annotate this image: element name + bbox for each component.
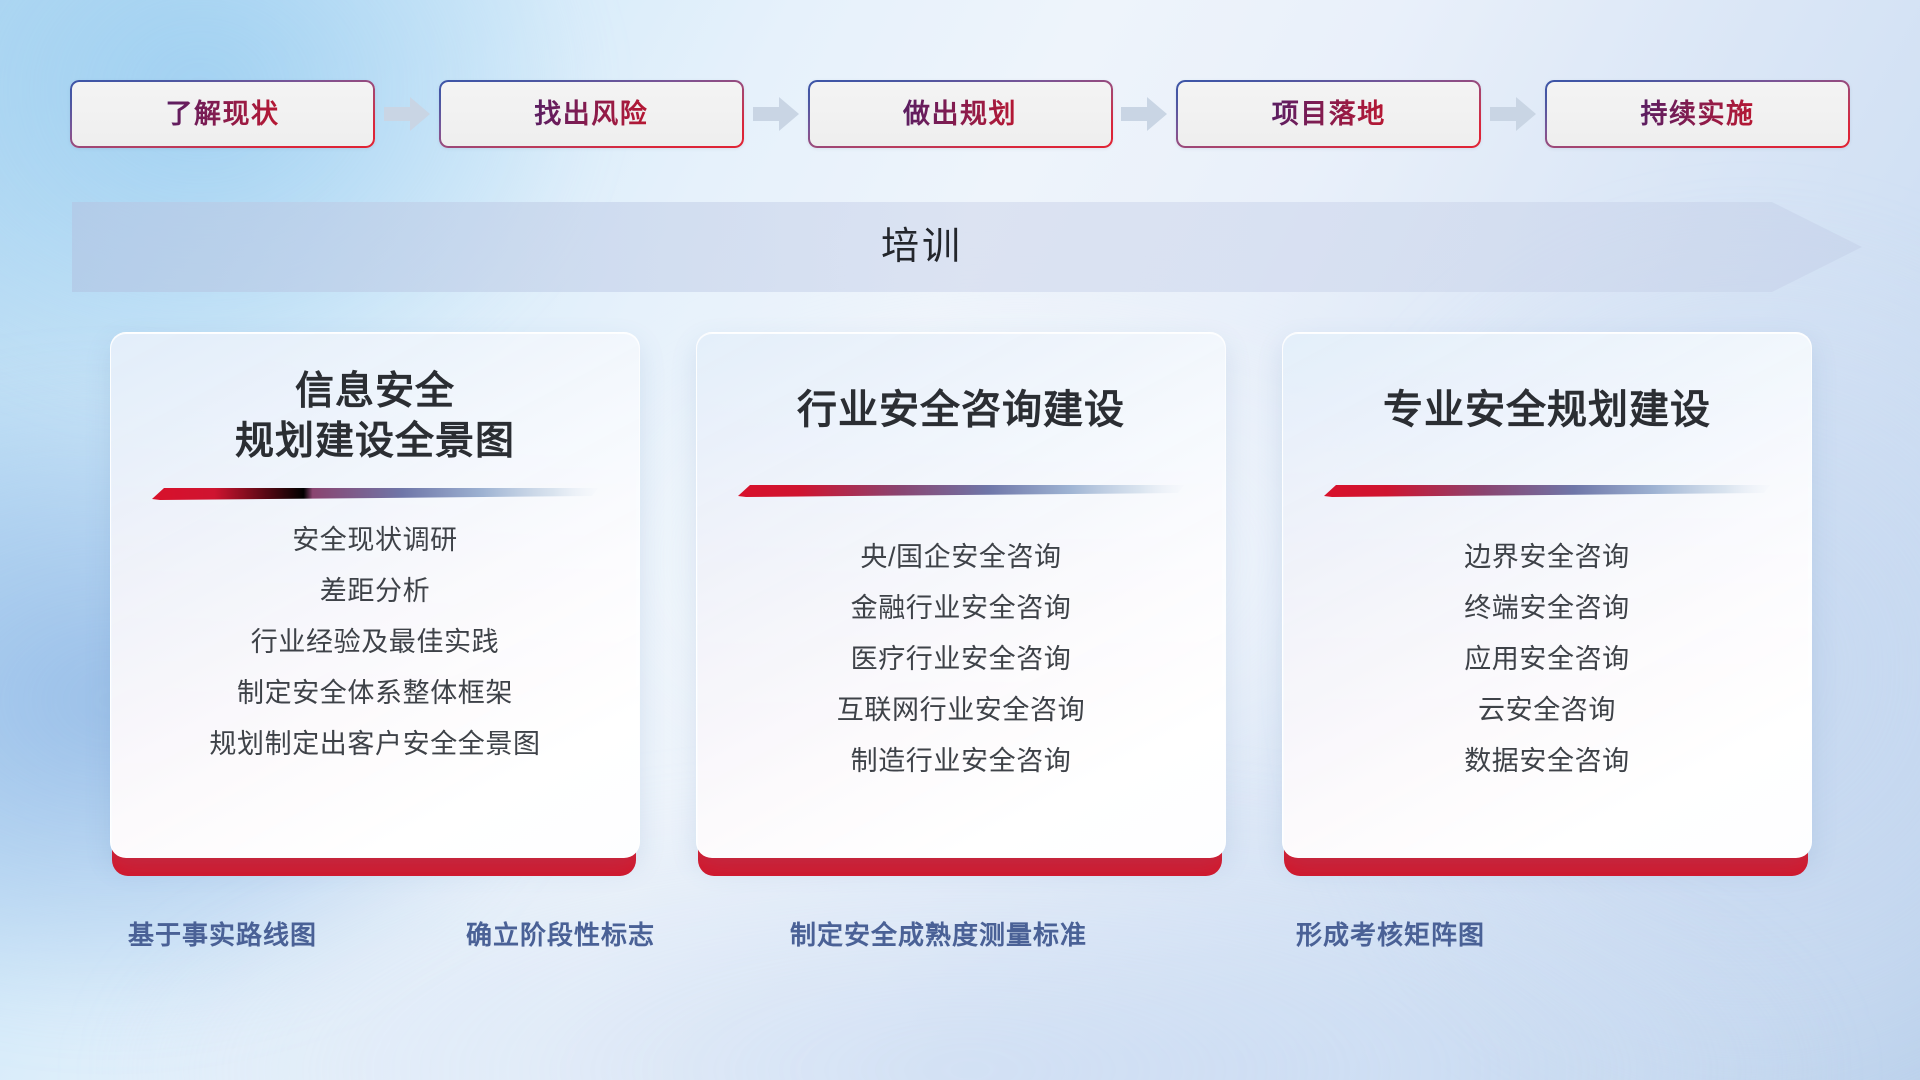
list-item: 云安全咨询 (1283, 685, 1811, 736)
footnote-label: 形成考核矩阵图 (1296, 912, 1485, 958)
card-panel: 行业安全咨询建设 (696, 332, 1226, 858)
info-card[interactable]: 行业安全咨询建设 (696, 332, 1224, 872)
list-item: 制造行业安全咨询 (697, 736, 1225, 787)
card-panel: 专业安全规划建设 (1282, 332, 1812, 858)
process-step-1[interactable]: 了解现状 (70, 80, 375, 148)
card-item-list: 边界安全咨询 终端安全咨询 应用安全咨询 云安全咨询 数据安全咨询 (1283, 532, 1811, 787)
card-title: 信息安全 规划建设全景图 (111, 367, 639, 467)
list-item: 边界安全咨询 (1283, 532, 1811, 583)
footnote-row: 基于事实路线图 确立阶段性标志 制定安全成熟度测量标准 形成考核矩阵图 (0, 912, 1920, 958)
process-step-4[interactable]: 项目落地 (1176, 80, 1481, 148)
process-step-2[interactable]: 找出风险 (439, 80, 744, 148)
list-item: 制定安全体系整体框架 (111, 668, 639, 719)
process-step-3[interactable]: 做出规划 (808, 80, 1113, 148)
process-step-4-label: 项目落地 (1176, 80, 1481, 148)
arrow-right-icon (1121, 97, 1167, 131)
gradient-divider-icon (738, 484, 1184, 498)
process-step-1-label: 了解现状 (70, 80, 375, 148)
footnote-label: 基于事实路线图 (128, 912, 317, 958)
list-item: 差距分析 (111, 566, 639, 617)
process-step-5-label: 持续实施 (1545, 80, 1850, 148)
list-item: 央/国企安全咨询 (697, 532, 1225, 583)
info-card[interactable]: 专业安全规划建设 (1282, 332, 1810, 872)
card-title: 行业安全咨询建设 (697, 385, 1225, 436)
card-group: 信息安全 规划建设全景图 (110, 332, 1810, 872)
list-item: 行业经验及最佳实践 (111, 617, 639, 668)
process-step-3-label: 做出规划 (808, 80, 1113, 148)
list-item: 规划制定出客户安全全景图 (111, 719, 639, 770)
list-item: 金融行业安全咨询 (697, 583, 1225, 634)
footnote-label: 制定安全成熟度测量标准 (790, 912, 1087, 958)
list-item: 应用安全咨询 (1283, 634, 1811, 685)
list-item: 医疗行业安全咨询 (697, 634, 1225, 685)
card-item-list: 央/国企安全咨询 金融行业安全咨询 医疗行业安全咨询 互联网行业安全咨询 制造行… (697, 532, 1225, 787)
slide-canvas: 了解现状 找出风险 做出规划 项目落地 (0, 0, 1920, 1080)
footnote-label: 确立阶段性标志 (466, 912, 655, 958)
card-title: 专业安全规划建设 (1283, 385, 1811, 436)
gradient-divider-icon (152, 487, 598, 501)
training-banner: 培训 (72, 202, 1862, 292)
card-item-list: 安全现状调研 差距分析 行业经验及最佳实践 制定安全体系整体框架 规划制定出客户… (111, 515, 639, 770)
arrow-right-icon (753, 97, 799, 131)
info-card[interactable]: 信息安全 规划建设全景图 (110, 332, 638, 872)
list-item: 互联网行业安全咨询 (697, 685, 1225, 736)
gradient-divider-icon (1324, 484, 1770, 498)
list-item: 终端安全咨询 (1283, 583, 1811, 634)
process-step-2-label: 找出风险 (439, 80, 744, 148)
list-item: 安全现状调研 (111, 515, 639, 566)
process-step-5[interactable]: 持续实施 (1545, 80, 1850, 148)
process-step-row: 了解现状 找出风险 做出规划 项目落地 (70, 80, 1850, 148)
arrow-right-icon (384, 97, 430, 131)
training-banner-title: 培训 (72, 202, 1772, 292)
arrow-right-icon (1490, 97, 1536, 131)
card-panel: 信息安全 规划建设全景图 (110, 332, 640, 858)
list-item: 数据安全咨询 (1283, 736, 1811, 787)
